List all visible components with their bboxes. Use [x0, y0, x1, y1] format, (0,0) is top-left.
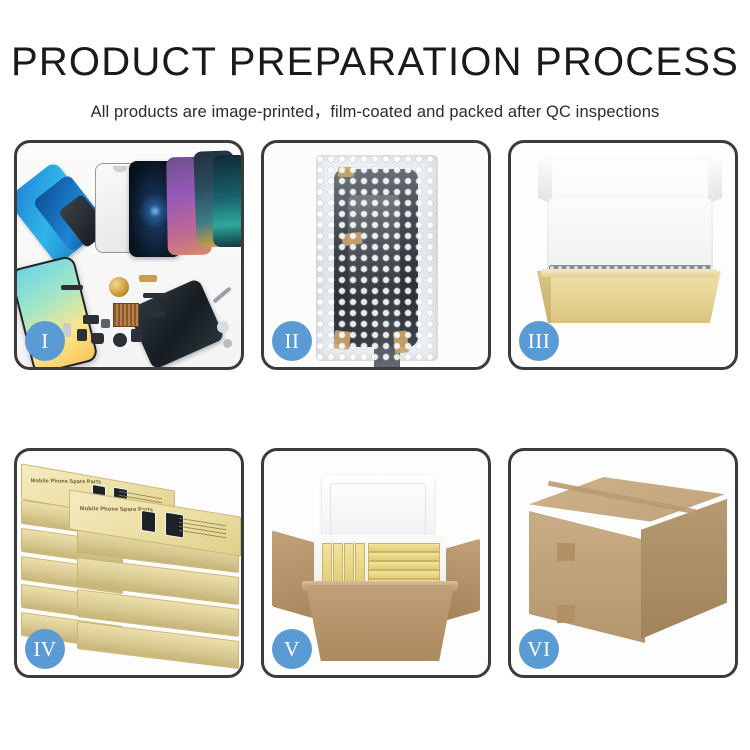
tweezer-icon	[212, 286, 231, 303]
component-icon	[139, 275, 157, 282]
yellow-box-item	[368, 552, 440, 561]
yellow-box-item	[368, 570, 440, 579]
page-subtitle: All products are image-printed，film-coat…	[0, 82, 750, 122]
yellow-box-item	[322, 543, 332, 585]
component-icon	[83, 315, 99, 324]
green-phone-icon	[213, 155, 241, 247]
yellow-box-item	[344, 543, 354, 585]
foam-panel	[549, 199, 711, 271]
process-step-panel-5: V	[261, 448, 491, 678]
component-icon	[145, 311, 165, 317]
step-badge-2: II	[272, 321, 312, 361]
box-spec-lines	[179, 518, 227, 541]
step-badge-5: V	[272, 629, 312, 669]
process-step-panel-6: VI	[508, 448, 738, 678]
yellow-box-base	[537, 271, 721, 323]
component-icon	[113, 333, 127, 347]
screw-icon	[217, 321, 229, 333]
component-icon	[77, 329, 87, 341]
yellow-box-item	[368, 543, 440, 552]
product-preparation-infographic: PRODUCT PREPARATION PROCESS All products…	[0, 0, 750, 750]
process-step-panel-2: II	[261, 140, 491, 370]
component-icon	[91, 333, 104, 344]
step-badge-3: III	[519, 321, 559, 361]
component-icon	[61, 285, 83, 290]
process-step-grid: I II	[14, 140, 738, 680]
yellow-box-item	[333, 543, 343, 585]
carton-body	[306, 585, 454, 661]
carton-tape-patch	[557, 543, 575, 561]
box-product-photo	[141, 509, 156, 532]
step-badge-6: VI	[519, 629, 559, 669]
carton-front-face	[529, 511, 645, 643]
step-badge-4: IV	[25, 629, 65, 669]
step-badge-1: I	[25, 321, 65, 361]
component-icon	[143, 293, 169, 298]
bubble-texture	[316, 155, 438, 361]
yellow-box-item	[368, 561, 440, 570]
process-step-panel-3: III	[508, 140, 738, 370]
process-step-panel-4: Mobile Phone Spare Parts Mobile Phone Sp…	[14, 448, 244, 678]
yellow-box-rim	[541, 269, 717, 277]
screw-icon	[223, 339, 232, 348]
yellow-box-item	[355, 543, 365, 585]
page-title: PRODUCT PREPARATION PROCESS	[0, 0, 750, 82]
component-icon	[101, 319, 110, 328]
copper-coil-icon	[109, 277, 129, 297]
chip-grid-icon	[113, 303, 139, 327]
bubble-wrap-bag	[316, 155, 438, 361]
component-icon	[131, 329, 142, 342]
phone-back-housing-icon	[127, 278, 225, 367]
carton-tape-patch	[557, 605, 575, 623]
process-step-panel-1: I	[14, 140, 244, 370]
header: PRODUCT PREPARATION PROCESS All products…	[0, 0, 750, 122]
